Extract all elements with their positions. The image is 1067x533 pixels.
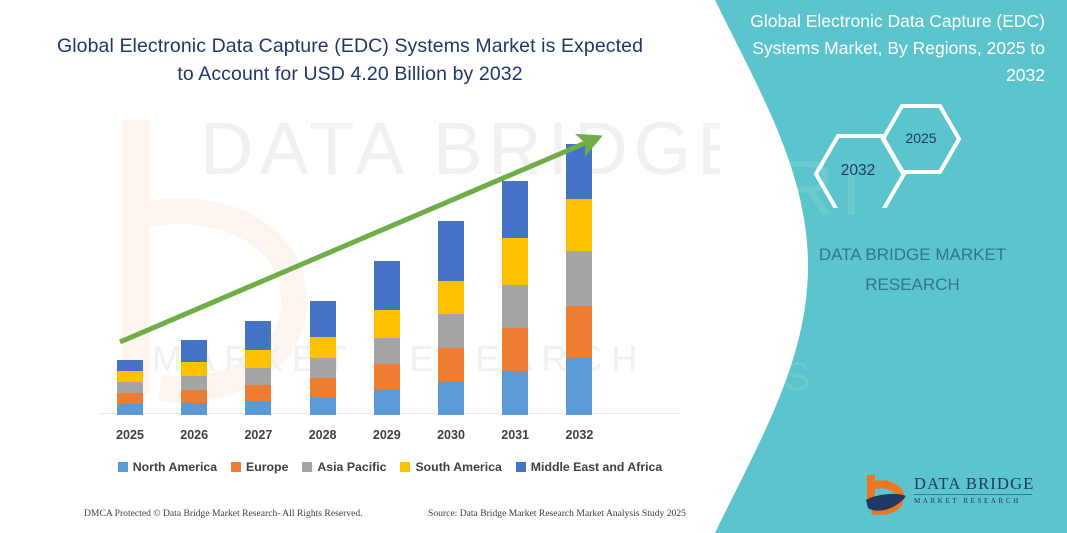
legend-swatch-icon <box>118 462 128 472</box>
legend-swatch-icon <box>516 462 526 472</box>
hexagon-badges <box>790 98 990 208</box>
footer-source: Source: Data Bridge Market Research Mark… <box>428 508 686 519</box>
chart-title: Global Electronic Data Capture (EDC) Sys… <box>55 32 645 88</box>
bar-segment[interactable] <box>117 371 143 382</box>
right-panel-title: Global Electronic Data Capture (EDC) Sys… <box>725 8 1045 89</box>
bar-segment[interactable] <box>117 393 143 404</box>
bar-segment[interactable] <box>245 368 271 385</box>
data-bridge-b-icon <box>862 472 908 516</box>
x-axis-label-2028: 2028 <box>298 428 348 442</box>
legend-swatch-icon <box>302 462 312 472</box>
x-axis-labels: 20252026202720282029203020312032 <box>100 428 680 446</box>
legend-item[interactable]: Asia Pacific <box>302 460 386 474</box>
brand-line-2: RESEARCH <box>785 270 1040 300</box>
legend-label: Europe <box>246 460 288 474</box>
brand-line-1: DATA BRIDGE MARKET <box>785 240 1040 270</box>
bar-segment[interactable] <box>310 358 336 378</box>
growth-arrow-icon <box>100 118 620 358</box>
svg-text:RES: RES <box>710 355 819 399</box>
bar-segment[interactable] <box>181 403 207 415</box>
legend-swatch-icon <box>231 462 241 472</box>
legend-item[interactable]: Europe <box>231 460 288 474</box>
x-axis-label-2029: 2029 <box>362 428 412 442</box>
footer-copyright: DMCA Protected © Data Bridge Market Rese… <box>84 508 363 519</box>
bar-segment[interactable] <box>117 360 143 371</box>
x-axis-label-2032: 2032 <box>554 428 604 442</box>
bar-segment[interactable] <box>310 378 336 397</box>
bar-segment[interactable] <box>181 376 207 390</box>
brand-name-block: DATA BRIDGE MARKET RESEARCH <box>785 240 1040 300</box>
legend-item[interactable]: North America <box>118 460 217 474</box>
bar-segment[interactable] <box>502 371 528 415</box>
x-axis-label-2025: 2025 <box>105 428 155 442</box>
legend-label: Asia Pacific <box>317 460 386 474</box>
bar-2025[interactable] <box>117 360 143 415</box>
chart-panel: DATA BRIDGE MARKET RESEARCH Global Elect… <box>0 0 720 533</box>
legend-label: South America <box>415 460 501 474</box>
logo-name: DATA BRIDGE <box>914 474 1039 493</box>
x-axis-label-2030: 2030 <box>426 428 476 442</box>
bar-segment[interactable] <box>374 390 400 415</box>
hexagon-label-2032: 2032 <box>818 162 898 180</box>
footer-bar: DMCA Protected © Data Bridge Market Rese… <box>0 505 720 529</box>
hexagon-label-2025: 2025 <box>886 130 956 146</box>
bar-segment[interactable] <box>181 362 207 376</box>
bar-segment[interactable] <box>310 397 336 415</box>
bar-segment[interactable] <box>566 358 592 415</box>
legend-label: Middle East and Africa <box>531 460 662 474</box>
company-logo: DATA BRIDGE MARKET RESEARCH <box>862 470 1037 518</box>
x-axis-label-2031: 2031 <box>490 428 540 442</box>
bar-segment[interactable] <box>438 382 464 415</box>
legend-swatch-icon <box>400 462 410 472</box>
bar-segment[interactable] <box>117 404 143 415</box>
bar-segment[interactable] <box>245 401 271 415</box>
legend-item[interactable]: South America <box>400 460 501 474</box>
bar-segment[interactable] <box>374 364 400 390</box>
logo-wordmark: DATA BRIDGE MARKET RESEARCH <box>914 474 1039 506</box>
bar-segment[interactable] <box>117 382 143 393</box>
chart-legend: North AmericaEuropeAsia PacificSouth Ame… <box>100 460 680 474</box>
legend-label: North America <box>133 460 217 474</box>
legend-item[interactable]: Middle East and Africa <box>516 460 662 474</box>
logo-tagline: MARKET RESEARCH <box>914 496 1039 506</box>
logo-divider <box>914 494 1032 495</box>
bar-segment[interactable] <box>245 385 271 401</box>
x-axis-label-2026: 2026 <box>169 428 219 442</box>
bar-segment[interactable] <box>181 390 207 403</box>
x-axis-label-2027: 2027 <box>233 428 283 442</box>
